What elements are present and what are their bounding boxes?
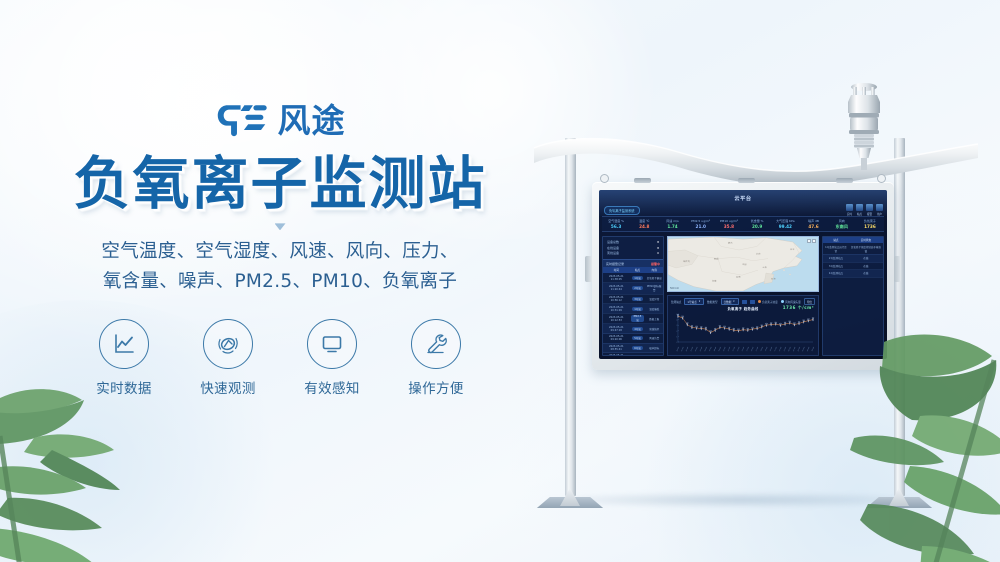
svg-text:05:00: 05:00 <box>812 347 815 353</box>
alarm-list-scroll[interactable]: 时间站点内容 2023-05-21 11:38:051号站负氧离子偏高2023-… <box>603 267 663 355</box>
svg-text:19:00: 19:00 <box>765 347 768 353</box>
table-cell: 4号站 <box>630 324 646 334</box>
metric-item: 空气湿度 %56.3 <box>602 219 630 229</box>
bell-icon[interactable] <box>866 204 873 211</box>
table-cell: 2023-05-21 10:56:12 <box>603 294 630 304</box>
table-row[interactable]: 2023-05-21 09:47:184号站离线恢复 <box>603 324 663 334</box>
metric-value: 24.8 <box>630 224 658 230</box>
feature-icon-circle <box>203 319 253 369</box>
metric-item: 氧含量 %20.9 <box>743 219 771 229</box>
chart-next-button[interactable] <box>750 300 755 304</box>
map-scale-label: 500 km <box>670 287 679 290</box>
table-cell: 5号站 <box>630 334 646 344</box>
chart-toolbar[interactable]: 监测站点 1号站点 ▾ 数据类型 日数据 ▾ <box>671 298 815 305</box>
svg-text:16:00: 16:00 <box>751 347 754 353</box>
table-cell: 负氧离子偏高 <box>645 273 663 282</box>
mount-clip-icon <box>836 178 853 183</box>
line-chart-icon <box>111 331 137 357</box>
svg-text:00:00: 00:00 <box>677 347 680 353</box>
chart-legend-item-1: 负氧离子浓度 <box>758 300 778 304</box>
zoom-out-icon[interactable] <box>812 239 816 243</box>
svg-text:05:00: 05:00 <box>700 347 703 353</box>
metric-value: 47.6 <box>799 224 827 230</box>
station-status-table: 站点实时状态 1号监测站点运行正常负氧离子浓度持续高于基准值2号监测站点在线3号… <box>823 237 883 278</box>
svg-text:0: 0 <box>677 342 678 345</box>
feature-list: 实时数据 快速观测 <box>0 319 560 397</box>
svg-text:03:00: 03:00 <box>691 347 694 353</box>
table-cell: 7号站 <box>630 353 646 355</box>
chart-data-marker <box>719 325 721 329</box>
table-cell: 2023-05-21 10:31:09 <box>603 304 630 314</box>
chart-data-marker <box>696 326 698 330</box>
table-row[interactable]: 2023-05-21 08:55:416号站噪声超标 <box>603 343 663 353</box>
table-cell: 6号站 <box>630 343 646 353</box>
table-row[interactable]: 2023-05-21 10:31:091号站湿度偏低 <box>603 304 663 314</box>
table-cell: 温度异常 <box>645 294 663 304</box>
chart-readout-value: 1736 个/cm³ <box>783 305 814 311</box>
chart-data-marker <box>812 317 814 321</box>
chevron-down-icon: ▾ <box>733 300 734 304</box>
svg-text:4: 4 <box>677 319 678 322</box>
support-post-right <box>894 138 905 496</box>
svg-text:22:00: 22:00 <box>779 347 782 353</box>
table-row[interactable]: 2023-05-21 11:20:442号站PM10超标报警 <box>603 283 663 295</box>
dashboard-status-icons[interactable]: 实时 站点 报警 用户 <box>846 204 883 216</box>
table-row[interactable]: 4号监测站点在线 <box>823 270 883 278</box>
svg-text:03:00: 03:00 <box>802 347 805 353</box>
chart-station-select[interactable]: 1号站点 ▾ <box>684 298 704 305</box>
brand-name: 风途 <box>278 104 346 137</box>
table-cell: 2023-05-21 09:47:18 <box>603 324 630 334</box>
zoom-in-icon[interactable] <box>807 239 811 243</box>
svg-text:10:00: 10:00 <box>723 347 726 353</box>
table-row[interactable]: 1号监测站点运行正常负氧离子浓度持续高于基准值 <box>823 243 883 254</box>
svg-text:1: 1 <box>677 336 678 339</box>
svg-text:2: 2 <box>677 331 678 334</box>
svg-text:09:00: 09:00 <box>718 347 721 353</box>
monitor-display-icon <box>319 331 345 357</box>
table-row[interactable]: 2023-05-21 09:20:065号站风速告警 <box>603 334 663 344</box>
table-cell: 1号站 <box>630 273 646 282</box>
table-cell: PM2.5站 <box>630 313 646 324</box>
title-divider-icon <box>275 223 286 230</box>
feature-item-realtime-data[interactable]: 实时数据 <box>86 319 162 397</box>
alarm-list-title: 实时报警记录 <box>606 262 624 266</box>
count-key: 离线设备 <box>607 251 619 257</box>
subtitle-line-2: 氧含量、噪声、PM2.5、PM10、负氧离子 <box>0 267 560 297</box>
legend-label: 负氧离子浓度 <box>762 300 778 304</box>
subtitle-line-1: 空气温度、空气湿度、风速、风向、压力、 <box>0 237 560 267</box>
svg-text:17:00: 17:00 <box>756 347 759 353</box>
feature-label: 操作方便 <box>398 377 474 397</box>
map-zoom-controls[interactable] <box>807 239 817 243</box>
table-cell: 2023-05-21 09:20:06 <box>603 334 630 344</box>
frame-side-bracket-right <box>894 256 901 282</box>
table-row[interactable]: 2023-05-21 08:33:277号站气压异常 <box>603 353 663 355</box>
subtitle-block: 空气温度、空气湿度、风速、风向、压力、 氧含量、噪声、PM2.5、PM10、负氧… <box>0 237 560 297</box>
svg-text:07:00: 07:00 <box>709 347 712 353</box>
chart-data-marker <box>742 327 744 331</box>
metric-value: 21.0 <box>687 224 715 230</box>
table-row[interactable]: 2023-05-21 11:38:051号站负氧离子偏高 <box>603 273 663 282</box>
metric-value: 56.3 <box>602 224 630 230</box>
base-plate-left <box>534 488 606 508</box>
page-title: 负氧离子监测站 <box>0 154 560 214</box>
feature-item-easy-operation[interactable]: 操作方便 <box>398 319 474 397</box>
table-cell: 噪声超标 <box>645 343 663 353</box>
chart-data-marker <box>789 321 791 325</box>
svg-text:11:00: 11:00 <box>728 347 731 353</box>
trend-line-chart: 54321000:0001:0002:0003:0004:0005:0006:0… <box>671 311 815 353</box>
table-cell: 3号监测站点 <box>823 262 849 270</box>
alarm-table: 时间站点内容 2023-05-21 11:38:051号站负氧离子偏高2023-… <box>603 267 663 355</box>
feature-label: 有效感知 <box>294 377 370 397</box>
device-count-block: 设备总数8在线设备8离线设备0 <box>603 237 663 259</box>
chart-data-marker <box>766 323 768 327</box>
metric-value: 东南风 <box>828 224 856 230</box>
metric-item: 温度 ℃24.8 <box>630 219 658 229</box>
svg-text:18:00: 18:00 <box>760 347 763 353</box>
metric-value: 99.42 <box>771 224 799 230</box>
display-frame: 云平台 负氧离子监测系统 实时 站点 报警 <box>592 182 894 370</box>
table-cell: 离线恢复 <box>645 324 663 334</box>
svg-text:20:00: 20:00 <box>770 347 773 353</box>
user-icon[interactable] <box>876 204 883 211</box>
chart-data-marker <box>677 314 679 318</box>
metric-item: 风向东南风 <box>828 219 856 229</box>
metric-value: 1736 <box>856 224 884 230</box>
metric-item: 负氧离子1736 <box>856 219 884 229</box>
chart-station-value: 1号站点 <box>687 300 696 304</box>
table-cell: 2023-05-21 11:38:05 <box>603 273 630 282</box>
table-cell: 2号监测站点 <box>823 254 849 262</box>
table-cell: 数据上报 <box>645 313 663 324</box>
table-cell: 1号监测站点运行正常 <box>823 243 849 254</box>
feature-icon-circle <box>307 319 357 369</box>
svg-text:06:00: 06:00 <box>704 347 707 353</box>
chart-range-value: 日数据 <box>724 300 732 304</box>
metric-item: 大气压强 KPa99.42 <box>771 219 799 229</box>
table-cell: 2023-05-21 10:12:53 <box>603 313 630 324</box>
svg-text:12:00: 12:00 <box>732 347 735 353</box>
svg-text:01:00: 01:00 <box>681 347 684 353</box>
center-column: 蒙古 北京 新疆 中国 上海 云南 台湾 哈萨克 印度 日本 <box>667 236 819 356</box>
mount-clip-icon <box>634 178 651 183</box>
mount-clip-icon <box>738 178 755 183</box>
table-cell: 2023-05-21 08:55:41 <box>603 343 630 353</box>
feature-icon-circle <box>99 319 149 369</box>
frame-side-bracket-left <box>585 256 592 282</box>
svg-text:00:00: 00:00 <box>788 347 791 353</box>
metric-item: PM10 ug/m³35.8 <box>715 219 743 229</box>
table-body: 2023-05-21 11:38:051号站负氧离子偏高2023-05-21 1… <box>603 273 663 355</box>
right-panel: 站点实时状态 1号监测站点运行正常负氧离子浓度持续高于基准值2号监测站点在线3号… <box>822 236 884 356</box>
dashboard-screen[interactable]: 云平台 负氧离子监测系统 实时 站点 报警 <box>599 190 887 359</box>
table-cell: 在线 <box>849 270 883 278</box>
dashboard-body: 设备总数8在线设备8离线设备0 实时报警记录 报警中 时间站点内容 2023-0… <box>602 236 884 356</box>
station-map[interactable]: 蒙古 北京 新疆 中国 上海 云南 台湾 哈萨克 印度 日本 <box>667 236 819 292</box>
table-cell: 负氧离子浓度持续高于基准值 <box>849 243 883 254</box>
svg-text:14:00: 14:00 <box>742 347 745 353</box>
chart-data-marker <box>705 327 707 331</box>
svg-text:04:00: 04:00 <box>695 347 698 353</box>
feature-item-fast-observation[interactable]: 快速观测 <box>190 319 266 397</box>
support-post-left <box>565 138 576 496</box>
svg-text:02:00: 02:00 <box>686 347 689 353</box>
legend-swatch-icon <box>758 300 761 303</box>
wind-cloud-logo-icon <box>215 101 269 139</box>
chart-legend-item-2: 风向风速矢量 <box>781 300 801 304</box>
table-cell: 在线 <box>849 262 883 270</box>
alarm-list-header: 实时报警记录 报警中 <box>603 259 663 267</box>
count-value: 0 <box>657 251 659 257</box>
base-plate-right <box>863 488 935 508</box>
table-row[interactable]: 2023-05-21 10:56:123号站温度异常 <box>603 294 663 304</box>
svg-text:23:00: 23:00 <box>784 347 787 353</box>
map-pin-icon[interactable] <box>856 204 863 211</box>
table-cell: 1号站 <box>630 304 646 314</box>
table-row[interactable]: 2023-05-21 10:12:53PM2.5站数据上报 <box>603 313 663 324</box>
svg-text:04:00: 04:00 <box>807 347 810 353</box>
table-row[interactable]: 3号监测站点在线 <box>823 262 883 270</box>
device-count-row: 离线设备0 <box>607 251 659 257</box>
table-cell: 2号站 <box>630 283 646 295</box>
chart-data-marker <box>775 322 777 326</box>
ultrasonic-weather-sensor-icon <box>838 78 890 174</box>
svg-text:3: 3 <box>677 325 678 328</box>
table-cell: 气压异常 <box>645 353 663 355</box>
feature-label: 实时数据 <box>86 377 162 397</box>
chart-prev-button[interactable] <box>742 300 747 304</box>
dashboard-system-tag: 负氧离子监测系统 <box>604 206 640 215</box>
svg-text:21:00: 21:00 <box>774 347 777 353</box>
chevron-down-icon: ▾ <box>699 300 700 304</box>
banner-stage: 风途 负氧离子监测站 空气温度、空气湿度、风速、风向、压力、 氧含量、噪声、PM… <box>0 0 1000 562</box>
chart-data-marker <box>724 326 726 330</box>
legend-swatch-icon <box>781 300 784 303</box>
table-cell: PM10超标报警 <box>645 283 663 295</box>
gauge-icon[interactable] <box>846 204 853 211</box>
svg-text:02:00: 02:00 <box>798 347 801 353</box>
table-cell: 3号站 <box>630 294 646 304</box>
svg-text:08:00: 08:00 <box>714 347 717 353</box>
svg-text:01:00: 01:00 <box>793 347 796 353</box>
table-cell: 2023-05-21 11:20:44 <box>603 283 630 295</box>
mount-hook-icon <box>600 174 609 183</box>
legend-label: 风向风速矢量 <box>785 300 801 304</box>
chart-range-select[interactable]: 日数据 ▾ <box>721 298 739 305</box>
screen-header-glow <box>599 190 887 216</box>
metric-item: 风速 m/s1.74 <box>658 219 686 229</box>
table-cell: 湿度偏低 <box>645 304 663 314</box>
brand-logo: 风途 <box>0 96 560 144</box>
feature-icon-circle <box>411 319 461 369</box>
table-cell: 在线 <box>849 254 883 262</box>
monitoring-station-product: 云平台 负氧离子监测系统 实时 站点 报警 <box>520 60 990 520</box>
chart-export-button[interactable]: 导出 <box>804 298 815 305</box>
wave-canopy-icon <box>528 120 984 190</box>
table-cell: 4号监测站点 <box>823 270 849 278</box>
metric-value: 35.8 <box>715 224 743 230</box>
feature-label: 快速观测 <box>190 377 266 397</box>
chart-select-label-2: 数据类型 <box>707 300 717 304</box>
marketing-copy-block: 风途 负氧离子监测站 空气温度、空气湿度、风速、风向、压力、 氧含量、噪声、PM… <box>0 96 560 397</box>
metric-item: 噪声 dB47.6 <box>799 219 827 229</box>
alarm-status-badge: 报警中 <box>651 262 660 266</box>
svg-text:13:00: 13:00 <box>737 347 740 353</box>
left-panel: 设备总数8在线设备8离线设备0 实时报警记录 报警中 时间站点内容 2023-0… <box>602 236 664 356</box>
table-body: 1号监测站点运行正常负氧离子浓度持续高于基准值2号监测站点在线3号监测站点在线4… <box>823 243 883 277</box>
table-cell: 风速告警 <box>645 334 663 344</box>
wrench-tool-icon <box>423 331 449 357</box>
metric-value: 20.9 <box>743 224 771 230</box>
chart-select-label-1: 监测站点 <box>671 300 681 304</box>
chart-data-marker <box>752 327 754 331</box>
dashboard-title: 云平台 <box>599 195 887 202</box>
chart-data-marker <box>686 322 688 326</box>
svg-text:15:00: 15:00 <box>746 347 749 353</box>
metric-item: PM2.5 ug/m³21.0 <box>687 219 715 229</box>
feature-item-effective-sensing[interactable]: 有效感知 <box>294 319 370 397</box>
trend-chart-panel: 监测站点 1号站点 ▾ 数据类型 日数据 ▾ <box>667 295 819 356</box>
table-row[interactable]: 2号监测站点在线 <box>823 254 883 262</box>
metric-strip: 空气湿度 %56.3温度 ℃24.8风速 m/s1.74PM2.5 ug/m³2… <box>602 216 884 232</box>
table-cell: 2023-05-21 08:33:27 <box>603 353 630 355</box>
radar-signal-icon <box>215 331 241 357</box>
mount-hook-icon <box>877 174 886 183</box>
china-map-icon: 蒙古 北京 新疆 中国 上海 云南 台湾 哈萨克 印度 日本 <box>668 237 818 291</box>
chart-data-marker <box>700 326 702 330</box>
metric-value: 1.74 <box>658 224 686 230</box>
